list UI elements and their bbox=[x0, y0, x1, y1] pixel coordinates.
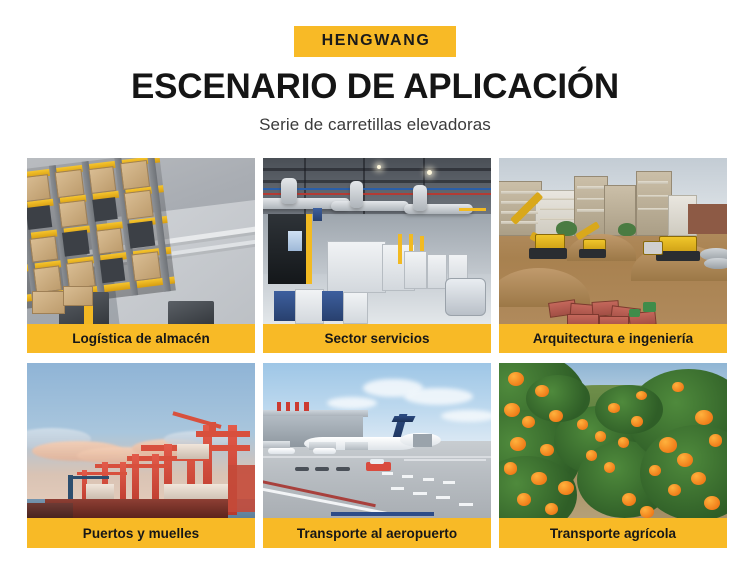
scenario-card-architecture-engineering[interactable]: Arquitectura e ingeniería bbox=[499, 158, 727, 353]
scenario-card-ports-docks[interactable]: Puertos y muelles bbox=[27, 363, 255, 548]
brand-badge: HENGWANG bbox=[294, 26, 457, 57]
page-title: ESCENARIO DE APLICACIÓN bbox=[0, 69, 750, 106]
scenario-caption-agricultural-transport: Transporte agrícola bbox=[499, 518, 727, 548]
scenario-image-architecture-engineering bbox=[499, 158, 727, 324]
scenario-image-airport-transport bbox=[263, 363, 491, 518]
application-scenario-poster: HENGWANG ESCENARIO DE APLICACIÓN Serie d… bbox=[0, 0, 750, 569]
scenario-caption-architecture-engineering: Arquitectura e ingeniería bbox=[499, 324, 727, 353]
scenario-caption-service-sector: Sector servicios bbox=[263, 324, 491, 353]
scenario-card-service-sector[interactable]: Sector servicios bbox=[263, 158, 491, 353]
scenario-card-warehouse-logistics[interactable]: Logística de almacén bbox=[27, 158, 255, 353]
scenario-grid: Logística de almacén bbox=[27, 158, 724, 548]
scenario-image-ports-docks bbox=[27, 363, 255, 518]
scenario-card-airport-transport[interactable]: Transporte al aeropuerto bbox=[263, 363, 491, 548]
scenario-caption-warehouse-logistics: Logística de almacén bbox=[27, 324, 255, 353]
scenario-card-agricultural-transport[interactable]: Transporte agrícola bbox=[499, 363, 727, 548]
scenario-image-warehouse-logistics bbox=[27, 158, 255, 324]
poster-header: HENGWANG ESCENARIO DE APLICACIÓN Serie d… bbox=[0, 0, 750, 135]
scenario-image-agricultural-transport bbox=[499, 363, 727, 518]
scenario-caption-airport-transport: Transporte al aeropuerto bbox=[263, 518, 491, 548]
scenario-caption-ports-docks: Puertos y muelles bbox=[27, 518, 255, 548]
page-subtitle: Serie de carretillas elevadoras bbox=[0, 115, 750, 135]
scenario-image-service-sector bbox=[263, 158, 491, 324]
